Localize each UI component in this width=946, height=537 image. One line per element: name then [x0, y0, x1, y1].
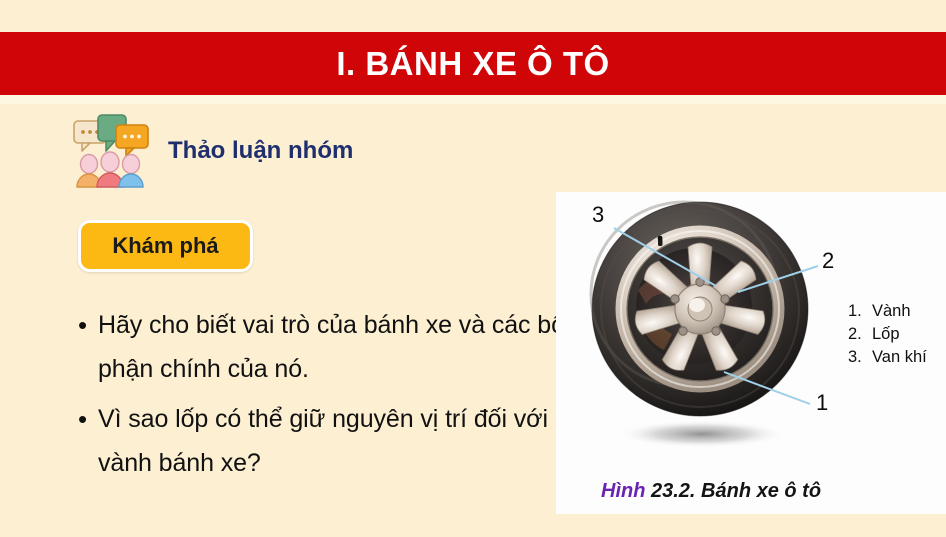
list-item: • Vì sao lốp có thể giữ nguyên vị trí đố…: [72, 397, 567, 485]
explore-button-label: Khám phá: [112, 233, 218, 259]
legend-item: 3. Van khí: [848, 346, 927, 369]
figure-caption-prefix: Hình: [601, 480, 645, 502]
legend-number: 2.: [848, 323, 872, 346]
air-valve: [658, 236, 663, 246]
person-right-icon: [119, 155, 143, 188]
question-list: • Hãy cho biết vai trò của bánh xe và cá…: [72, 303, 567, 491]
bullet-icon: •: [72, 303, 98, 347]
bullet-icon: •: [72, 397, 98, 441]
legend-label: Lốp: [872, 323, 900, 346]
group-discussion-label: Thảo luận nhóm: [168, 137, 353, 167]
figure-caption: Hình 23.2. Bánh xe ô tô: [601, 480, 821, 503]
callout-number-2: 2: [822, 248, 834, 274]
person-center-icon: [97, 152, 123, 187]
list-item: • Hãy cho biết vai trò của bánh xe và cá…: [72, 303, 567, 391]
legend-label: Van khí: [872, 346, 927, 369]
title-underline-strip: [0, 95, 946, 104]
figure-legend: 1. Vành 2. Lốp 3. Van khí: [848, 300, 927, 369]
car-wheel-photo: [566, 198, 836, 456]
legend-item: 1. Vành: [848, 300, 927, 323]
slide-canvas: I. BÁNH XE Ô TÔ: [0, 0, 946, 537]
callout-number-1: 1: [816, 390, 828, 416]
section-title-bar: I. BÁNH XE Ô TÔ: [0, 32, 946, 95]
wheel-shadow: [618, 420, 786, 448]
question-text: Hãy cho biết vai trò của bánh xe và các …: [98, 303, 567, 391]
legend-number: 3.: [848, 346, 872, 369]
bubble-right-icon: [116, 125, 148, 156]
legend-number: 1.: [848, 300, 872, 323]
figure-caption-rest: 23.2. Bánh xe ô tô: [645, 480, 821, 502]
explore-button[interactable]: Khám phá: [78, 220, 253, 272]
group-discussion-icon: [70, 113, 152, 191]
callout-number-3: 3: [592, 202, 604, 228]
legend-label: Vành: [872, 300, 911, 323]
legend-item: 2. Lốp: [848, 323, 927, 346]
figure-panel: 3 2 1 1. Vành 2. Lốp 3. Van khí Hình 23.…: [556, 192, 946, 514]
page-title: I. BÁNH XE Ô TÔ: [336, 47, 609, 80]
question-text: Vì sao lốp có thể giữ nguyên vị trí đối …: [98, 397, 567, 485]
group-discussion-block: Thảo luận nhóm: [70, 112, 353, 192]
